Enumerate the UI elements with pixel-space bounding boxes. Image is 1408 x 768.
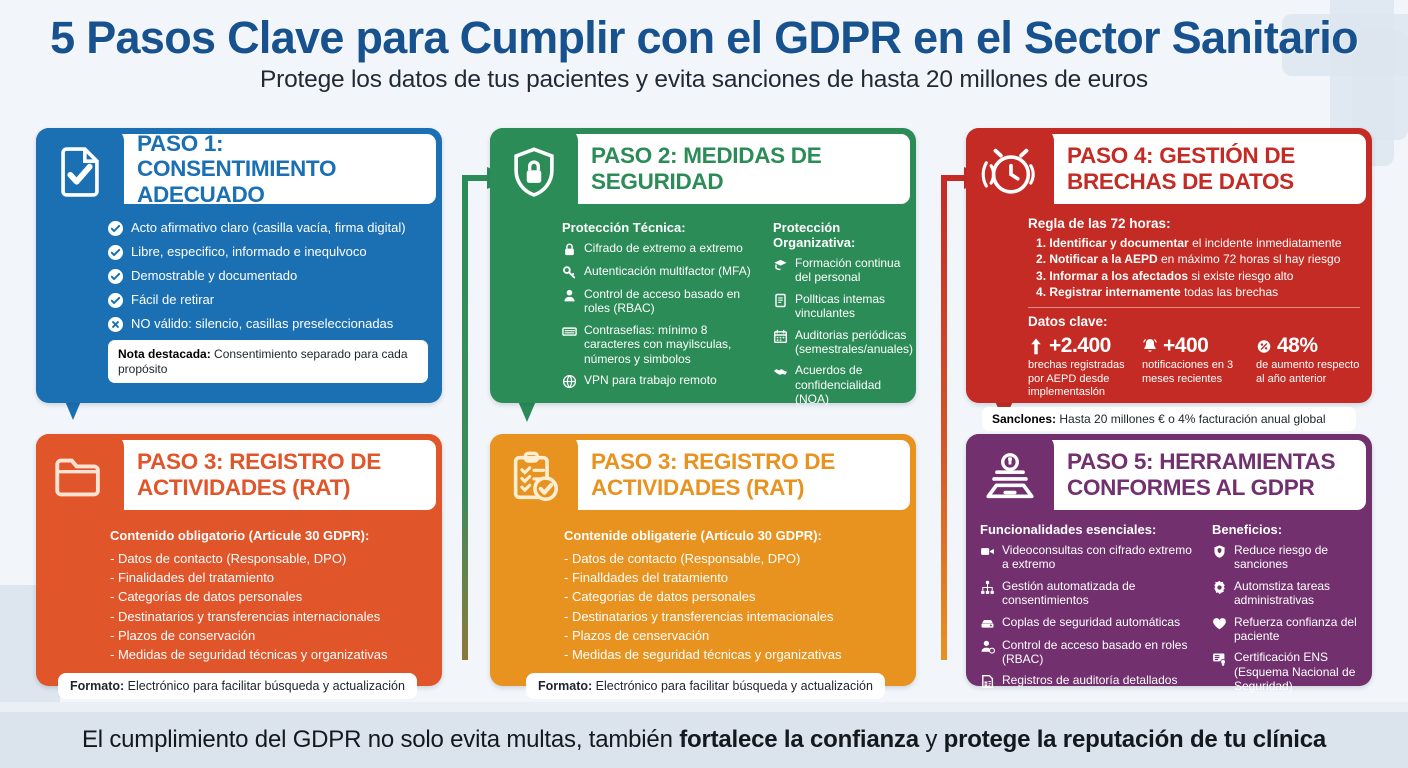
stat-value-row: +400: [1142, 334, 1246, 358]
list-item-label: Automstiza tareas administrativas: [1234, 579, 1360, 608]
list-item: - Plazos de censervación: [564, 626, 900, 645]
card-step-1-body: Acto afirmativo claro (casilla vacía, fi…: [36, 210, 442, 395]
stat-breaches: +2.400 brechas registradas por AEPD desd…: [1028, 334, 1132, 399]
stat-label: de aumento respecto al año anterior: [1256, 359, 1360, 385]
list-item-bold: Identificar y documentar: [1049, 236, 1188, 250]
list-item-label: Control de acceso basado en roles (RBAC): [1002, 638, 1198, 667]
list-item-label: Acto afirmativo claro (casilla vacía, fi…: [131, 220, 406, 235]
list-item-bold: Notificar a la AEPD: [1049, 252, 1157, 266]
list-item: Demostrable y documentado: [108, 268, 428, 284]
benefits-list: Reduce riesgo de sanciones Automstiza ta…: [1212, 543, 1360, 694]
list-item: Notificar a la AEPD en máximo 72 horas s…: [1036, 252, 1360, 267]
audit-log-icon: [980, 674, 995, 689]
sitemap-icon: [980, 580, 995, 595]
organizational-measures-list: Formación continua del personal Polltica…: [773, 256, 902, 407]
card-step-5-title-plate: PASO 5: HERRAMIENTAS CONFORMES AL GDPR: [1043, 440, 1366, 510]
card-step-1-title-plate: PASO 1: CONSENTIMIENTO ADECUADO: [113, 134, 436, 204]
list-item: Autenticación multifactor (MFA): [562, 264, 759, 280]
backup-icon: [980, 616, 995, 631]
list-item-label: Libre, especifico, informado e inequlvoc…: [131, 244, 367, 259]
stat-notifications: +400 notificaciones en 3 meses recientes: [1142, 334, 1246, 399]
card-step-5-title: PASO 5: HERRAMIENTAS CONFORMES AL GDPR: [1067, 449, 1356, 500]
footer: El cumplimiento del GDPR no solo evita m…: [0, 712, 1408, 768]
list-item: NO válido: silencio, casillas preselecci…: [108, 316, 428, 332]
list-item: Videoconsultas con cifrado extremo a ext…: [980, 543, 1198, 572]
card-step-2-header: PASO 2: MEDIDAS DE SEGURIDAD: [490, 128, 916, 210]
list-item-label: Control de acceso basado en roles (RBAC): [584, 287, 759, 316]
card-step-3-middle-body: Contenide obligaterie (Artículo 30 GDPR)…: [490, 516, 916, 711]
card-step-3-left[interactable]: PASO 3: REGISTRO DE ACTIVIDADES (RAT) Co…: [36, 434, 442, 686]
document-icon: [773, 293, 788, 308]
list-item-label: Formación continua del personal: [795, 256, 902, 285]
pill-label: Formato:: [70, 679, 124, 693]
user-icon: [562, 288, 577, 303]
list-item: Identificar y documentar el incidente in…: [1036, 236, 1360, 251]
cross-circle-icon: [108, 317, 123, 332]
card-step-2-title-plate: PASO 2: MEDIDAS DE SEGURIDAD: [567, 134, 910, 204]
list-item-label: Cifrado de extremo a extremo: [584, 241, 743, 255]
lock-icon: [562, 242, 577, 257]
section-heading: Contenide obligaterie (Artículo 30 GDPR)…: [564, 528, 900, 543]
card-step-4-title: PASO 4: GESTIÓN DE BRECHAS DE DATOS: [1067, 143, 1356, 194]
technical-measures-list: Cifrado de extremo a extremo Autenticaci…: [562, 241, 759, 389]
percent-circle-icon: [1256, 337, 1272, 356]
card-step-1[interactable]: PASO 1: CONSENTIMIENTO ADECUADO Acto afi…: [36, 128, 442, 403]
list-item: - Finalldades del tratamiento: [564, 568, 900, 587]
card-step-3-middle-title-plate: PASO 3: REGISTRO DE ACTIVIDADES (RAT): [567, 440, 910, 510]
list-item-bold: Registrar internamente: [1049, 285, 1180, 299]
list-item: Cifrado de extremo a extremo: [562, 241, 759, 257]
column-heading: Protección Organizativa:: [773, 220, 902, 250]
stat-value: +2.400: [1049, 334, 1111, 358]
list-item: Automstiza tareas administrativas: [1212, 579, 1360, 608]
list-item: Libre, especifico, informado e inequlvoc…: [108, 244, 428, 260]
footer-bold-1: fortalece la confianza: [679, 726, 919, 753]
stat-label: brechas registradas por AEPD desde imple…: [1028, 359, 1132, 399]
note-label: Nota destacada:: [118, 347, 211, 361]
security-column-technical: Protección Técnica: Cifrado de extremo a…: [562, 220, 759, 414]
list-item-rest: si existe riesgo alto: [1188, 269, 1293, 283]
list-item: Coplas de seguridad automáticas: [980, 615, 1198, 631]
pill-label: Formato:: [538, 679, 592, 693]
features-list: Videoconsultas con cifrado extremo a ext…: [980, 543, 1198, 689]
list-item-label: Autenticación multifactor (MFA): [584, 264, 751, 278]
stat-value: +400: [1163, 334, 1208, 358]
key-stats: +2.400 brechas registradas por AEPD desd…: [1028, 334, 1360, 399]
card-step-2-body: Protección Técnica: Cifrado de extremo a…: [490, 210, 916, 426]
card-step-2-badge: [490, 128, 578, 216]
card-step-3-middle-header: PASO 3: REGISTRO DE ACTIVIDADES (RAT): [490, 434, 916, 516]
list-item-label: Registros de auditoría detallados: [1002, 673, 1177, 687]
list-item-label: Pollticas intemas vinculantes: [795, 292, 902, 321]
list-item: VPN para trabajo remoto: [562, 373, 759, 389]
list-item: Control de acceso basado en roles (RBAC): [562, 287, 759, 316]
stat-value: 48%: [1277, 334, 1318, 358]
card-step-3-middle[interactable]: PASO 3: REGISTRO DE ACTIVIDADES (RAT) Co…: [490, 434, 916, 686]
list-item-label: Acuerdos de confidencialidad (NOA): [795, 363, 902, 406]
certificate-icon: [1212, 651, 1227, 666]
check-circle-icon: [108, 245, 123, 260]
card-step-4-sanctions-pill: Sanclones: Hasta 20 millones € o 4% fact…: [982, 407, 1356, 431]
card-step-3-left-header: PASO 3: REGISTRO DE ACTIVIDADES (RAT): [36, 434, 442, 516]
list-item-rest: en máximo 72 horas sl hay riesgo: [1158, 252, 1341, 266]
list-item-label: Videoconsultas con cifrado extremo a ext…: [1002, 543, 1198, 572]
calendar-icon: [773, 329, 788, 344]
footer-lead: El cumplimiento del GDPR no solo evita m…: [82, 726, 679, 753]
card-step-4[interactable]: PASO 4: GESTIÓN DE BRECHAS DE DATOS Regl…: [966, 128, 1372, 403]
gear-icon: [1212, 580, 1227, 595]
list-item: Pollticas intemas vinculantes: [773, 292, 902, 321]
list-item: Registrar internamente todas las brechas: [1036, 285, 1360, 300]
footer-text: El cumplimiento del GDPR no solo evita m…: [82, 726, 1326, 754]
list-item: Acuerdos de confidencialidad (NOA): [773, 363, 902, 406]
list-item: Control de acceso basado en roles (RBAC): [980, 638, 1198, 667]
card-step-3-left-badge: [36, 434, 124, 522]
breach-rule-list: Identificar y documentar el incidente in…: [1036, 236, 1360, 300]
footer-bold-2: protege la reputación de tu clínica: [944, 726, 1326, 753]
list-item: - Datos de contacto (Responsable, DPO): [110, 549, 426, 568]
list-item: Auditorias periódicas (semestrales/anual…: [773, 328, 902, 357]
rat-content-list: - Datos de contacto (Responsable, DPO) -…: [110, 549, 426, 664]
video-camera-icon: [980, 544, 995, 559]
list-item-label: Demostrable y documentado: [131, 268, 297, 283]
list-item: - Categorias de datos personales: [564, 587, 900, 606]
page-title: 5 Pasos Clave para Cumplir con el GDPR e…: [0, 12, 1408, 64]
pill-text: Hasta 20 millones € o 4% facturación anu…: [1059, 412, 1325, 426]
list-item: Refuerza confianza del paciente: [1212, 615, 1360, 644]
list-item-label: Refuerza confianza del paciente: [1234, 615, 1360, 644]
list-item: - Datos de contacto (Responsable, DPO): [564, 549, 900, 568]
card-step-1-title: PASO 1: CONSENTIMIENTO ADECUADO: [137, 131, 426, 208]
list-item: - Medidas de seguridad técnicas y organi…: [564, 645, 900, 664]
heart-icon: [1212, 616, 1227, 631]
list-item: Gestión automatizada de consentimientos: [980, 579, 1198, 608]
section-heading: Contenido obligatorio (Articule 30 GDPR)…: [110, 528, 426, 543]
card-step-4-body: Regla de las 72 horas: Identificar y doc…: [966, 210, 1372, 441]
list-item: Acto afirmativo claro (casilla vacía, fi…: [108, 220, 428, 236]
tools-columns: Funcionalidades esenciales: Videoconsult…: [980, 522, 1360, 701]
list-item: Informar a los afectados si existe riesg…: [1036, 269, 1360, 284]
document-check-icon: [51, 143, 109, 201]
list-item: - Destinatarios y transferencias intemac…: [564, 607, 900, 626]
card-step-1-header: PASO 1: CONSENTIMIENTO ADECUADO: [36, 128, 442, 210]
footer-mid: y: [919, 726, 944, 753]
list-item-bold: Informar a los afectados: [1049, 269, 1188, 283]
card-step-3-left-title: PASO 3: REGISTRO DE ACTIVIDADES (RAT): [137, 449, 426, 500]
card-step-4-header: PASO 4: GESTIÓN DE BRECHAS DE DATOS: [966, 128, 1372, 210]
list-item: Reduce riesgo de sanciones: [1212, 543, 1360, 572]
card-step-1-note: Nota destacada: Consentimiento separado …: [108, 340, 428, 383]
list-item: - Finalidades del tratamiento: [110, 568, 426, 587]
stat-increase: 48% de aumento respecto al año anterior: [1256, 334, 1360, 399]
keyboard-icon: [562, 324, 577, 339]
list-item: Formación continua del personal: [773, 256, 902, 285]
stat-value-row: 48%: [1256, 334, 1360, 358]
page-header: 5 Pasos Clave para Cumplir con el GDPR e…: [0, 0, 1408, 112]
pill-label: Sanclones:: [992, 412, 1056, 426]
consent-checklist: Acto afirmativo claro (casilla vacía, fi…: [108, 220, 428, 332]
card-step-3-middle-content: Contenide obligaterie (Artículo 30 GDPR)…: [564, 528, 900, 664]
clipboard-check-icon: [505, 449, 563, 507]
folder-icon: [51, 449, 109, 507]
card-step-3-left-title-plate: PASO 3: REGISTRO DE ACTIVIDADES (RAT): [113, 440, 436, 510]
card-step-4-title-plate: PASO 4: GESTIÓN DE BRECHAS DE DATOS: [1043, 134, 1366, 204]
security-columns: Protección Técnica: Cifrado de extremo a…: [562, 220, 902, 414]
list-item-label: VPN para trabajo remoto: [584, 373, 717, 387]
card-step-5-body: Funcionalidades esenciales: Videoconsult…: [966, 516, 1372, 711]
shield-icon: [1212, 544, 1227, 559]
tools-column-benefits: Beneficios: Reduce riesgo de sanciones: [1212, 522, 1360, 701]
list-item: - Plazos de conservación: [110, 626, 426, 645]
check-circle-icon: [108, 221, 123, 236]
card-step-5-header: PASO 5: HERRAMIENTAS CONFORMES AL GDPR: [966, 434, 1372, 516]
list-item: - Destinatarios y transferencias interna…: [110, 607, 426, 626]
check-circle-icon: [108, 269, 123, 284]
rat-content-list: - Datos de contacto (Responsable, DPO) -…: [564, 549, 900, 664]
security-column-organizational: Protección Organizativa: Formación conti…: [773, 220, 902, 414]
check-circle-icon: [108, 293, 123, 308]
list-item: Contrasefias: mínimo 8 caracteres con ma…: [562, 323, 759, 366]
user-gear-icon: [980, 639, 995, 654]
list-item: - Categorías de datos personales: [110, 587, 426, 606]
stat-label: notificaciones en 3 meses recientes: [1142, 359, 1246, 385]
card-step-3-middle-title: PASO 3: REGISTRO DE ACTIVIDADES (RAT): [591, 449, 900, 500]
graduation-cap-icon: [773, 257, 788, 272]
platform-shield-icon: [981, 449, 1039, 507]
pill-text: Electrónico para facilitar búsqueda y ac…: [596, 679, 873, 693]
page-subtitle: Protege los datos de tus pacientes y evi…: [0, 66, 1408, 94]
card-step-3-left-body: Contenido obligatorio (Articule 30 GDPR)…: [36, 516, 442, 711]
tools-column-features: Funcionalidades esenciales: Videoconsult…: [980, 522, 1198, 701]
key-icon: [562, 265, 577, 280]
card-step-3-left-content: Contenido obligatorio (Articule 30 GDPR)…: [110, 528, 426, 664]
list-item: Fácil de retirar: [108, 292, 428, 308]
card-step-3-middle-badge: [490, 434, 578, 522]
card-step-1-badge: [36, 128, 124, 216]
stat-value-row: +2.400: [1028, 334, 1132, 358]
column-heading: Beneficios:: [1212, 522, 1360, 537]
card-step-3-left-format-pill: Formato: Electrónico para facilitar búsq…: [58, 673, 417, 699]
divider: [1028, 307, 1360, 308]
list-item-label: Auditorias periódicas (semestrales/anual…: [795, 328, 913, 357]
stats-heading: Datos clave:: [1028, 314, 1360, 329]
list-item-rest: todas las brechas: [1181, 285, 1278, 299]
card-step-4-badge: [966, 128, 1054, 216]
list-item-label: Coplas de seguridad automáticas: [1002, 615, 1180, 629]
rule-heading: Regla de las 72 horas:: [1028, 216, 1360, 231]
card-step-5-badge: [966, 434, 1054, 522]
bell-icon: [1142, 337, 1158, 356]
card-step-3-middle-format-pill: Formato: Electrónico para facilitar búsq…: [526, 673, 885, 699]
card-step-5[interactable]: PASO 5: HERRAMIENTAS CONFORMES AL GDPR F…: [966, 434, 1372, 686]
column-heading: Funcionalidades esenciales:: [980, 522, 1198, 537]
pill-text: Electrónico para facilitar búsqueda y ac…: [128, 679, 405, 693]
column-heading: Protección Técnica:: [562, 220, 759, 235]
arrow-up-icon: [1028, 337, 1044, 356]
list-item-label: Contrasefias: mínimo 8 caracteres con ma…: [584, 323, 759, 366]
card-step-2-title: PASO 2: MEDIDAS DE SEGURIDAD: [591, 143, 900, 194]
handshake-icon: [773, 364, 788, 379]
list-item-label: NO válido: silencio, casillas preselecci…: [131, 316, 393, 331]
list-item-rest: el incidente inmediatamente: [1189, 236, 1342, 250]
list-item: - Medidas de seguridad técnicas y organi…: [110, 645, 426, 664]
list-item-label: Reduce riesgo de sanciones: [1234, 543, 1360, 572]
globe-icon: [562, 374, 577, 389]
shield-lock-icon: [505, 143, 563, 201]
card-step-2[interactable]: PASO 2: MEDIDAS DE SEGURIDAD Protección …: [490, 128, 916, 403]
list-item: Registros de auditoría detallados: [980, 673, 1198, 689]
alarm-clock-icon: [981, 143, 1039, 201]
list-item: Certificación ENS (Esquema Nacional de S…: [1212, 650, 1360, 693]
list-item-label: Gestión automatizada de consentimientos: [1002, 579, 1198, 608]
list-item-label: Certificación ENS (Esquema Nacional de S…: [1234, 650, 1360, 693]
list-item-label: Fácil de retirar: [131, 292, 214, 307]
